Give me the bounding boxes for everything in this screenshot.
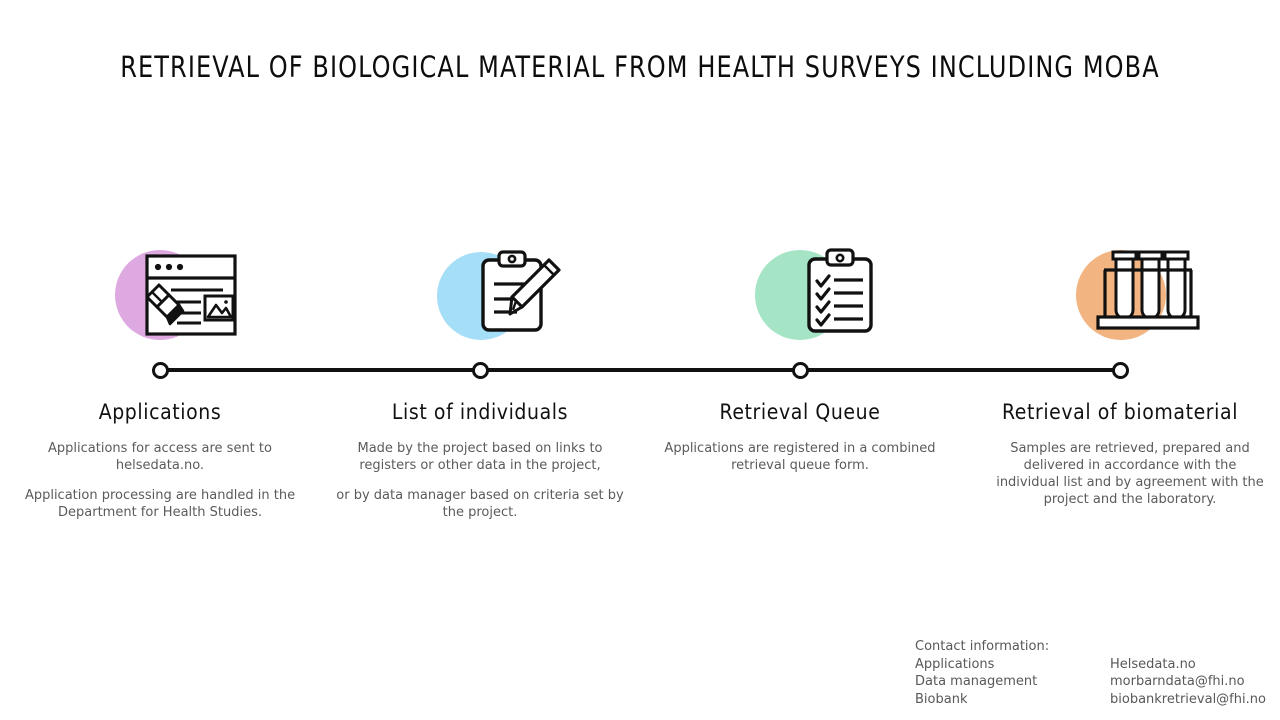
step-artwork — [960, 240, 1280, 350]
timeline-step-list-of-individuals: List of individuals Made by the project … — [320, 240, 640, 350]
timeline-track — [159, 368, 1120, 372]
step-description: Made by the project based on links to re… — [336, 440, 624, 521]
timeline-step-applications: Applications Applications for access are… — [0, 240, 320, 350]
timeline-step-retrieval-of-biomaterial: Retrieval of biomaterial Samples are ret… — [960, 240, 1280, 350]
contact-row: Data management morbarndata@fhi.no — [915, 673, 1266, 691]
contact-label: Data management — [915, 673, 1110, 691]
contact-information: Contact information: Applications Helsed… — [915, 638, 1266, 708]
step-description: Samples are retrieved, prepared and deli… — [996, 440, 1264, 508]
step-paragraph: Samples are retrieved, prepared and deli… — [996, 440, 1264, 508]
step-paragraph: Applications for access are sent to hels… — [10, 440, 310, 474]
timeline-step-retrieval-queue: Retrieval Queue Applications are registe… — [640, 240, 960, 350]
timeline-node-4[interactable] — [1112, 362, 1129, 379]
page-title: RETRIEVAL OF BIOLOGICAL MATERIAL FROM HE… — [51, 50, 1229, 84]
step-heading: Applications — [0, 400, 320, 424]
timeline-node-3[interactable] — [792, 362, 809, 379]
step-description: Applications for access are sent to hels… — [10, 440, 310, 521]
contact-row: Biobank biobankretrieval@fhi.no — [915, 691, 1266, 709]
contact-label: Applications — [915, 656, 1110, 674]
step-artwork — [320, 240, 640, 350]
contact-value[interactable]: Helsedata.no — [1110, 656, 1196, 674]
contact-row: Applications Helsedata.no — [915, 656, 1266, 674]
browser-window-pencil-icon — [143, 252, 239, 342]
clipboard-pencil-icon — [475, 248, 561, 338]
contact-heading: Contact information: — [915, 638, 1266, 656]
step-artwork — [640, 240, 960, 350]
contact-value[interactable]: biobankretrieval@fhi.no — [1110, 691, 1266, 709]
test-tube-rack-icon — [1096, 248, 1200, 336]
step-paragraph: Made by the project based on links to re… — [336, 440, 624, 474]
timeline-node-2[interactable] — [472, 362, 489, 379]
contact-label: Biobank — [915, 691, 1110, 709]
step-paragraph: Applications are registered in a combine… — [660, 440, 940, 474]
step-heading: List of individuals — [320, 400, 640, 424]
step-paragraph: Application processing are handled in th… — [10, 487, 310, 521]
step-heading: Retrieval of biomaterial — [960, 400, 1280, 424]
step-description: Applications are registered in a combine… — [660, 440, 940, 474]
clipboard-checklist-icon — [801, 247, 881, 337]
step-paragraph: or by data manager based on criteria set… — [336, 487, 624, 521]
timeline-node-1[interactable] — [152, 362, 169, 379]
step-heading: Retrieval Queue — [640, 400, 960, 424]
contact-value[interactable]: morbarndata@fhi.no — [1110, 673, 1245, 691]
step-artwork — [0, 240, 320, 350]
